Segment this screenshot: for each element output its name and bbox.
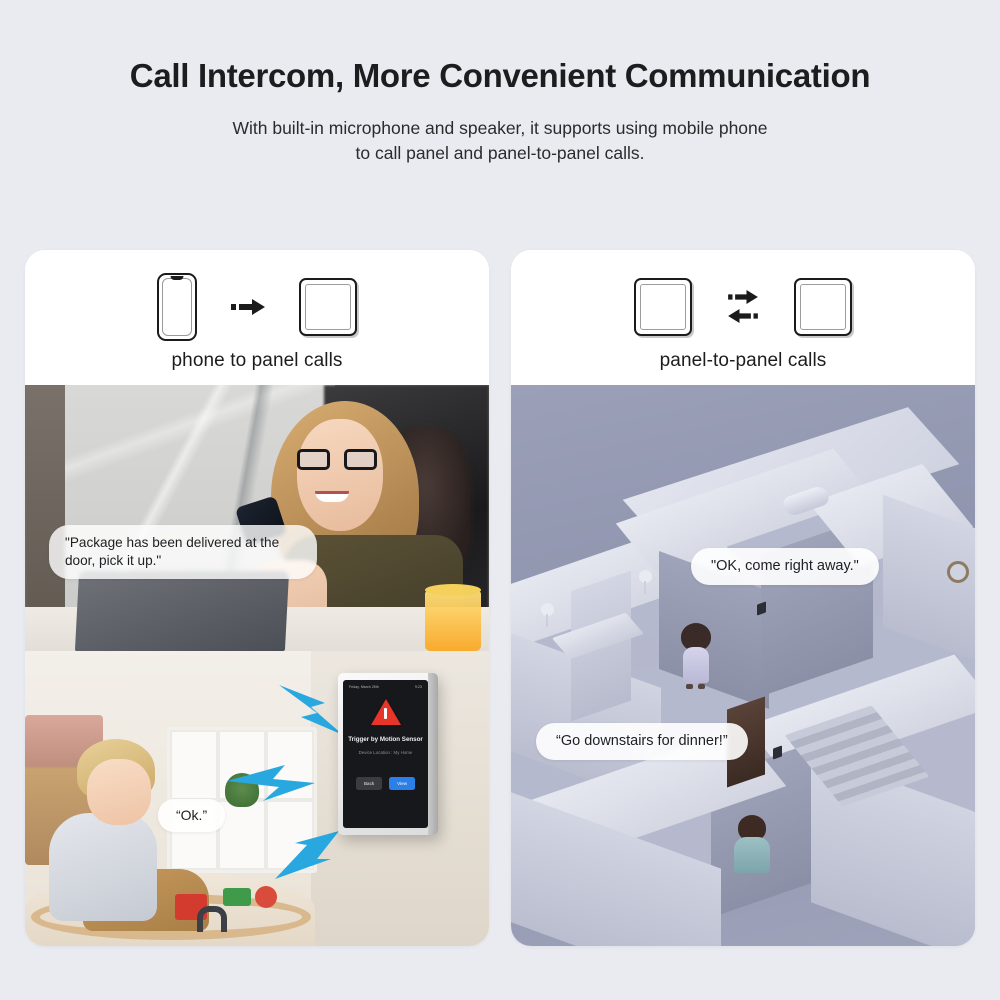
panel-status-bar: Friday, March 25th 9:23 (343, 680, 428, 689)
photo2-boy-face (87, 759, 151, 825)
speech-bubble-go-downstairs: “Go downstairs for dinner!” (536, 723, 748, 760)
cards-row: phone to panel calls "Package has been d… (25, 250, 975, 946)
page-root: Call Intercom, More Convenient Communica… (0, 0, 1000, 1000)
house-wall-lamp (639, 570, 652, 583)
lightning-bolt-icon (273, 829, 351, 881)
warning-triangle-icon (371, 699, 401, 725)
page-subtitle: With built-in microphone and speaker, it… (0, 116, 1000, 168)
photo2-toy-green (223, 888, 251, 906)
header: Call Intercom, More Convenient Communica… (0, 0, 1000, 167)
panel-side-edge (428, 673, 438, 835)
panel-status-time: 9:23 (415, 685, 422, 689)
panel-icon (634, 278, 692, 336)
lightning-bolt-icon (225, 763, 317, 803)
arrow-right-glyph (231, 299, 265, 315)
photo1-juice-glass (425, 591, 481, 651)
photo1-woman-face (297, 419, 383, 531)
right-card-icon-row (634, 270, 852, 344)
photo1-eyeglasses (297, 449, 377, 470)
panel-alert-title: Trigger by Motion Sensor (343, 736, 428, 743)
panel-screen[interactable]: Friday, March 25th 9:23 Trigger by Motio… (343, 680, 428, 828)
panel-view-button[interactable]: View (389, 777, 415, 790)
house-person-man (734, 815, 770, 871)
speech-bubble-ok-come-right-away: "OK, come right away." (691, 548, 879, 585)
left-card-phone-to-panel: phone to panel calls "Package has been d… (25, 250, 489, 946)
right-card-icon-caption: panel-to-panel calls (660, 350, 827, 372)
bidirectional-arrows-icon (726, 290, 760, 323)
woman-using-phone-photo: "Package has been delivered at the door,… (25, 385, 489, 651)
phone-icon (157, 273, 197, 341)
photo2-boy-body (49, 813, 157, 921)
isometric-house-cutaway-render: "OK, come right away." “Go downstairs fo… (511, 385, 975, 946)
panel-button-row: Back View (343, 777, 428, 790)
lightning-bolt-glyph (225, 763, 317, 803)
arrow-right-icon (726, 290, 760, 304)
lightning-bolt-glyph (273, 829, 351, 881)
page-title: Call Intercom, More Convenient Communica… (0, 56, 1000, 96)
arrow-left-icon (726, 309, 760, 323)
house-wall-lamp (541, 603, 554, 616)
photo1-laptop (75, 571, 289, 651)
photo2-toy-arch (197, 906, 227, 932)
house-round-mirror (947, 561, 969, 583)
panel-icon (794, 278, 852, 336)
page-subtitle-line-2: to call panel and panel-to-panel calls. (0, 141, 1000, 167)
left-card-icon-row (157, 270, 357, 344)
child-playroom-photo: Friday, March 25th 9:23 Trigger by Motio… (25, 651, 489, 946)
arrow-right-icon (231, 299, 265, 315)
right-card-panel-to-panel: panel-to-panel calls (511, 250, 975, 946)
panel-alert-subtitle: Device Location : My Home (343, 750, 428, 755)
speech-bubble-package-delivered: "Package has been delivered at the door,… (49, 525, 317, 579)
wall-mounted-panel-device[interactable]: Friday, March 25th 9:23 Trigger by Motio… (338, 673, 438, 835)
page-subtitle-line-1: With built-in microphone and speaker, it… (0, 116, 1000, 142)
panel-back-button[interactable]: Back (356, 777, 382, 790)
panel-status-date: Friday, March 25th (349, 685, 379, 689)
photo2-toy-ball (255, 886, 277, 908)
house-person-girl (679, 623, 713, 687)
panel-icon (299, 278, 357, 336)
left-card-icon-caption: phone to panel calls (171, 350, 342, 372)
speech-bubble-ok: “Ok.” (158, 799, 225, 832)
left-card-icon-strip: phone to panel calls (25, 250, 489, 385)
right-card-icon-strip: panel-to-panel calls (511, 250, 975, 385)
